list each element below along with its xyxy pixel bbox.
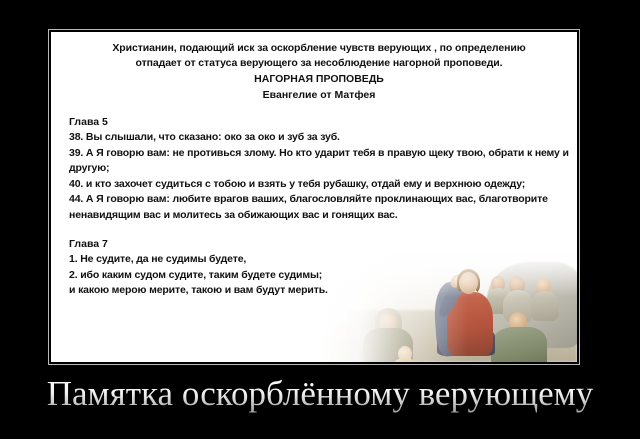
figure-body (491, 327, 547, 362)
verse-line: 38. Вы слышали, что сказано: око за око … (69, 130, 569, 146)
figure-body (391, 358, 419, 362)
content-panel: Христианин, подающий иск за оскорбление … (51, 32, 577, 362)
verse-line: и какою мерою мерите, такою и вам будут … (69, 283, 569, 299)
demotivator-poster: Христианин, подающий иск за оскорбление … (0, 0, 640, 439)
painting-child-figure (391, 346, 419, 362)
figure-body (363, 328, 413, 362)
chapter-block: Глава 5 38. Вы слышали, что сказано: око… (69, 115, 569, 223)
figure-body (323, 341, 363, 362)
premise-line-1: Христианин, подающий иск за оскорбление … (69, 41, 569, 56)
figure-hood (331, 322, 356, 346)
verse-line: 2. ибо каким судом судите, таким будете … (69, 268, 569, 284)
figure-head (509, 312, 527, 332)
verse-line: 44. А Я говорю вам: любите врагов ваших,… (69, 192, 569, 223)
painting-hills (347, 310, 577, 362)
figure-lap (437, 326, 495, 356)
scripture-text-block: Христианин, подающий иск за оскорбление … (51, 32, 577, 299)
chapter-block: Глава 7 1. Не судите, да не судимы будет… (69, 237, 569, 299)
chapter-label: Глава 5 (69, 115, 569, 130)
painting-listener-figure (363, 312, 413, 362)
verse-line: 1. Не судите, да не судимы будете, (69, 252, 569, 268)
figure-head (335, 326, 351, 345)
sermon-source: Евангелие от Матфея (69, 88, 569, 103)
painting-listener-figure (323, 326, 363, 362)
painting-seated-figure (491, 312, 547, 362)
figure-head (398, 346, 412, 362)
premise-line-2: отпадает от статуса верующего за несоблю… (69, 56, 569, 71)
sermon-title: НАГОРНАЯ ПРОПОВЕДЬ (69, 72, 569, 87)
content-panel-frame: Христианин, подающий иск за оскорбление … (48, 29, 580, 365)
figure-robe (447, 292, 493, 356)
verse-line: 40. и кто захочет судиться с тобою и взя… (69, 177, 569, 193)
figure-hood (375, 308, 402, 334)
poster-caption: Памятка оскорблённому верующему (0, 372, 640, 416)
chapter-label: Глава 7 (69, 237, 569, 252)
figure-head (379, 312, 397, 333)
verse-line: 39. А Я говорю вам: не противься злому. … (69, 146, 569, 177)
painting-rock-left (325, 326, 405, 362)
